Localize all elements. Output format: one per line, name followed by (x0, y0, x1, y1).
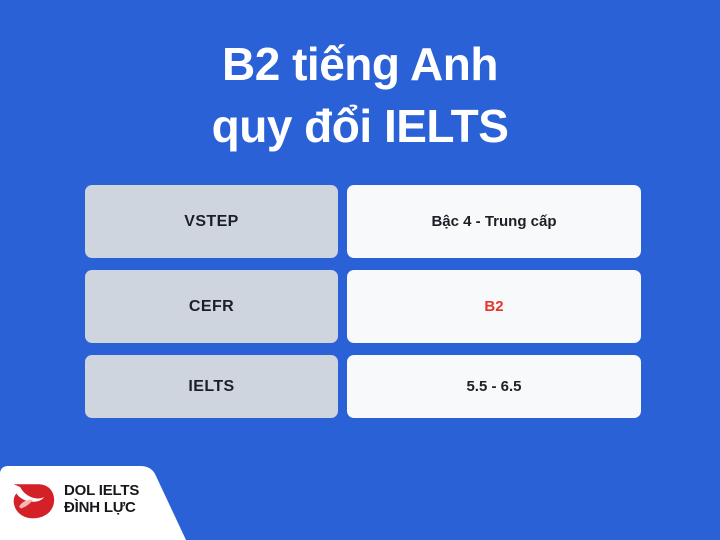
row-value-cefr: B2 (347, 270, 641, 343)
comparison-table: VSTEP Bậc 4 - Trung cấp CEFR B2 IELTS 5.… (85, 185, 641, 418)
dol-leaf-icon (10, 476, 56, 522)
table-row: VSTEP Bậc 4 - Trung cấp (85, 185, 641, 258)
row-value-vstep: Bậc 4 - Trung cấp (347, 185, 641, 258)
row-value-ielts: 5.5 - 6.5 (347, 355, 641, 418)
slide-canvas: B2 tiếng Anh quy đổi IELTS VSTEP Bậc 4 -… (0, 0, 720, 540)
brand-logo: DOL IELTS ĐÌNH LỰC (0, 454, 186, 540)
logo-wordmark: DOL IELTS ĐÌNH LỰC (64, 482, 139, 516)
row-label-vstep: VSTEP (85, 185, 338, 258)
table-row: CEFR B2 (85, 270, 641, 343)
row-label-cefr: CEFR (85, 270, 338, 343)
logo-line-1: DOL IELTS (64, 482, 139, 499)
title-line-2: quy đổi IELTS (0, 95, 720, 157)
row-label-ielts: IELTS (85, 355, 338, 418)
logo-line-2: ĐÌNH LỰC (64, 499, 139, 516)
logo-content: DOL IELTS ĐÌNH LỰC (10, 476, 139, 522)
page-title: B2 tiếng Anh quy đổi IELTS (0, 33, 720, 157)
table-row: IELTS 5.5 - 6.5 (85, 355, 641, 418)
title-line-1: B2 tiếng Anh (0, 33, 720, 95)
